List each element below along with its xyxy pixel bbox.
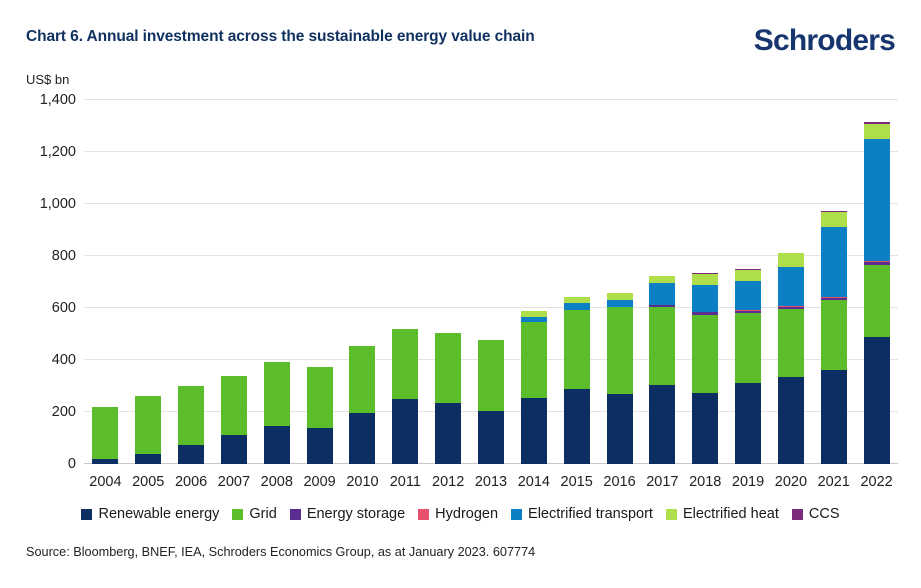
x-axis-tick-label: 2022: [860, 474, 892, 490]
bar-segment[interactable]: [221, 376, 247, 436]
y-axis-tick-label: 600: [16, 300, 76, 316]
legend-item[interactable]: Electrified heat: [666, 506, 779, 522]
bar-segment[interactable]: [349, 346, 375, 413]
bar-segment[interactable]: [392, 329, 418, 399]
y-axis-tick-label: 1,200: [16, 144, 76, 160]
bar-segment[interactable]: [864, 337, 890, 464]
bar-group[interactable]: [221, 376, 247, 464]
bar-segment[interactable]: [264, 426, 290, 464]
bar-segment[interactable]: [735, 313, 761, 384]
bar-segment[interactable]: [135, 396, 161, 453]
bar-segment[interactable]: [564, 310, 590, 389]
x-axis-tick-label: 2011: [390, 474, 421, 490]
x-axis-tick-label: 2005: [132, 474, 164, 490]
bar-segment[interactable]: [264, 362, 290, 426]
y-axis-tick-label: 1,400: [16, 92, 76, 108]
y-axis-tick-label: 0: [16, 456, 76, 472]
bar-group[interactable]: [435, 333, 461, 464]
legend-swatch-icon: [792, 509, 803, 520]
bar-segment[interactable]: [521, 398, 547, 464]
legend-swatch-icon: [418, 509, 429, 520]
bar-segment[interactable]: [178, 386, 204, 445]
bar-segment[interactable]: [735, 383, 761, 464]
legend-item[interactable]: Grid: [232, 506, 276, 522]
bar-group[interactable]: [778, 253, 804, 464]
chart-plot-wrapper: 02004006008001,0001,2001,400 20042005200…: [0, 0, 921, 588]
gridline: [84, 99, 898, 100]
legend-item-label: Renewable energy: [98, 506, 219, 522]
legend-item-label: Electrified heat: [683, 506, 779, 522]
x-axis-tick-label: 2014: [518, 474, 550, 490]
bar-group[interactable]: [692, 273, 718, 464]
x-axis-tick-label: 2015: [561, 474, 593, 490]
legend-item[interactable]: Electrified transport: [511, 506, 653, 522]
bar-segment[interactable]: [735, 270, 761, 282]
bar-segment[interactable]: [307, 367, 333, 428]
gridline: [84, 203, 898, 204]
x-axis-tick-label: 2008: [261, 474, 293, 490]
x-axis-tick-label: 2021: [818, 474, 850, 490]
bar-group[interactable]: [607, 293, 633, 464]
bar-segment[interactable]: [478, 340, 504, 412]
bar-segment[interactable]: [821, 370, 847, 464]
legend-item-label: CCS: [809, 506, 840, 522]
x-axis-tick-label: 2007: [218, 474, 250, 490]
legend-item-label: Hydrogen: [435, 506, 498, 522]
bar-group[interactable]: [564, 297, 590, 464]
bar-segment[interactable]: [821, 227, 847, 298]
x-axis-tick-label: 2019: [732, 474, 764, 490]
bar-segment[interactable]: [649, 307, 675, 385]
bar-segment[interactable]: [92, 407, 118, 459]
y-axis-tick-label: 800: [16, 248, 76, 264]
bar-segment[interactable]: [392, 399, 418, 464]
x-axis-tick-label: 2013: [475, 474, 507, 490]
y-axis-tick-label: 400: [16, 352, 76, 368]
bar-group[interactable]: [349, 346, 375, 464]
legend-swatch-icon: [81, 509, 92, 520]
source-note: Source: Bloomberg, BNEF, IEA, Schroders …: [26, 545, 535, 559]
bar-segment[interactable]: [778, 377, 804, 464]
bar-group[interactable]: [264, 362, 290, 464]
legend-swatch-icon: [511, 509, 522, 520]
gridline: [84, 307, 898, 308]
bar-segment[interactable]: [607, 394, 633, 464]
plot-area: [84, 100, 898, 464]
legend-item[interactable]: Energy storage: [290, 506, 405, 522]
bar-segment[interactable]: [564, 389, 590, 464]
bar-segment[interactable]: [692, 274, 718, 285]
bar-segment[interactable]: [735, 281, 761, 310]
bar-segment[interactable]: [821, 212, 847, 226]
bar-segment[interactable]: [607, 300, 633, 307]
bar-group[interactable]: [178, 386, 204, 464]
y-axis-tick-label: 1,000: [16, 196, 76, 212]
legend-item[interactable]: Renewable energy: [81, 506, 219, 522]
legend-swatch-icon: [666, 509, 677, 520]
bar-segment[interactable]: [607, 293, 633, 300]
bar-segment[interactable]: [864, 139, 890, 261]
x-axis-tick-label: 2020: [775, 474, 807, 490]
bar-segment[interactable]: [349, 413, 375, 464]
legend-swatch-icon: [232, 509, 243, 520]
bar-segment[interactable]: [778, 253, 804, 267]
gridline: [84, 151, 898, 152]
bar-segment[interactable]: [821, 300, 847, 370]
legend-item[interactable]: Hydrogen: [418, 506, 498, 522]
bar-segment[interactable]: [649, 283, 675, 305]
legend-swatch-icon: [290, 509, 301, 520]
bar-group[interactable]: [478, 340, 504, 464]
bar-group[interactable]: [864, 122, 890, 464]
bar-segment[interactable]: [307, 428, 333, 464]
x-axis-tick-label: 2006: [175, 474, 207, 490]
x-axis-tick-label: 2018: [689, 474, 721, 490]
bar-group[interactable]: [135, 396, 161, 464]
bar-segment[interactable]: [649, 276, 675, 283]
x-axis-tick-label: 2012: [432, 474, 464, 490]
chart-legend: Renewable energyGridEnergy storageHydrog…: [0, 506, 921, 522]
bar-segment[interactable]: [178, 445, 204, 465]
legend-item-label: Electrified transport: [528, 506, 653, 522]
legend-item[interactable]: CCS: [792, 506, 840, 522]
bar-segment[interactable]: [692, 393, 718, 465]
x-axis-tick-label: 2009: [303, 474, 335, 490]
x-axis-tick-label: 2017: [646, 474, 678, 490]
x-axis-tick-label: 2016: [603, 474, 635, 490]
bar-group[interactable]: [821, 211, 847, 464]
bar-segment[interactable]: [135, 454, 161, 464]
bar-segment[interactable]: [864, 124, 890, 139]
bar-segment[interactable]: [864, 265, 890, 337]
legend-item-label: Energy storage: [307, 506, 405, 522]
bar-segment[interactable]: [478, 411, 504, 464]
bar-segment[interactable]: [607, 307, 633, 394]
legend-item-label: Grid: [249, 506, 276, 522]
gridline: [84, 255, 898, 256]
x-axis-tick-label: 2010: [346, 474, 378, 490]
bar-segment[interactable]: [692, 315, 718, 393]
bar-segment[interactable]: [92, 459, 118, 464]
bar-segment[interactable]: [435, 333, 461, 403]
bar-segment[interactable]: [221, 435, 247, 464]
bar-group[interactable]: [521, 311, 547, 464]
bar-group[interactable]: [649, 276, 675, 464]
bar-group[interactable]: [735, 269, 761, 464]
y-axis-tick-label: 200: [16, 404, 76, 420]
bar-segment[interactable]: [778, 267, 804, 307]
bar-segment[interactable]: [521, 322, 547, 399]
x-axis-tick-label: 2004: [89, 474, 121, 490]
bar-segment[interactable]: [692, 285, 718, 312]
bar-group[interactable]: [392, 329, 418, 464]
bar-group[interactable]: [92, 407, 118, 464]
bar-segment[interactable]: [649, 385, 675, 464]
bar-segment[interactable]: [435, 403, 461, 464]
bar-segment[interactable]: [778, 309, 804, 377]
bar-group[interactable]: [307, 367, 333, 464]
